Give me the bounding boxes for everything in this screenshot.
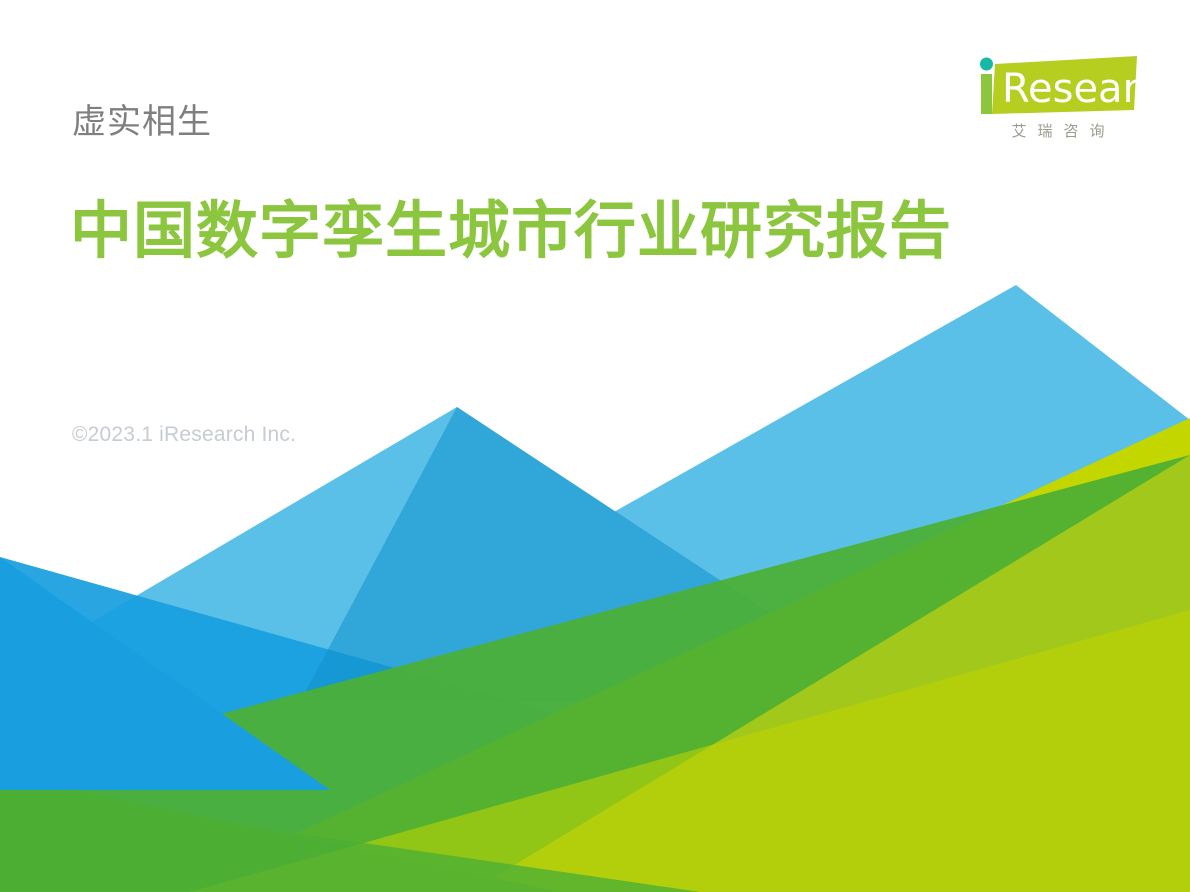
cover-content: Research 艾瑞咨询 虚实相生 中国数字孪生城市行业研究报告 ©2023.… [0,0,1190,892]
copyright-line: ©2023.1 iResearch Inc. [72,423,296,447]
iresearch-logo-mark: Research [962,52,1152,118]
page-title: 中国数字孪生城市行业研究报告 [70,184,990,278]
logo-wordmark: Research [1002,66,1152,112]
logo-chinese-label: 艾瑞咨询 [974,120,1142,141]
iresearch-logo: Research 艾瑞咨询 [962,52,1152,148]
logo-i-dot [980,58,993,71]
logo-i-stem [981,74,992,114]
report-cover-page: Research 艾瑞咨询 虚实相生 中国数字孪生城市行业研究报告 ©2023.… [0,0,1190,892]
logo-badge-icon: Research [962,52,1152,118]
cover-subtitle: 虚实相生 [72,104,212,141]
